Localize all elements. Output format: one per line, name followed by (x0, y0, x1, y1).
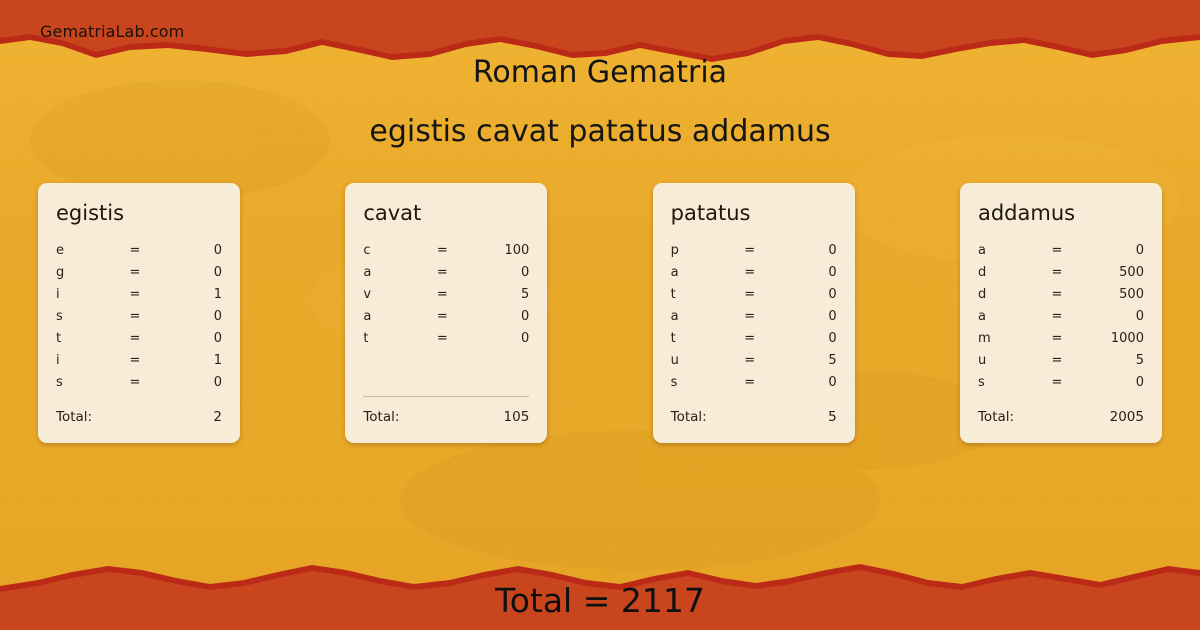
letter-value-row: t=0 (56, 331, 222, 353)
letter-value: 0 (1078, 375, 1144, 390)
equals-sign: = (114, 331, 156, 346)
letter-value-row: m=1000 (978, 331, 1144, 353)
card-total-row: Total:105 (363, 409, 529, 443)
letter: t (671, 331, 729, 346)
letter-value: 500 (1078, 287, 1144, 302)
letter-value: 0 (463, 309, 529, 324)
letter: d (978, 265, 1036, 280)
equals-sign: = (729, 331, 771, 346)
letter-value-list: p=0a=0t=0a=0t=0u=5s=0 (671, 243, 837, 397)
letter-value: 5 (1078, 353, 1144, 368)
letter-value-row: a=0 (978, 309, 1144, 331)
letter-value: 0 (156, 375, 222, 390)
letter-value: 5 (771, 353, 837, 368)
word-cards-row: egistise=0g=0i=1s=0t=0i=1s=0Total:2cavat… (38, 183, 1162, 443)
equals-sign: = (421, 309, 463, 324)
letter-value: 0 (156, 309, 222, 324)
letter-value: 500 (1078, 265, 1144, 280)
letter: g (56, 265, 114, 280)
letter: u (671, 353, 729, 368)
card-spacer (363, 353, 529, 396)
letter-value: 0 (771, 309, 837, 324)
card-total-value: 2005 (1014, 409, 1144, 425)
letter-value: 0 (771, 287, 837, 302)
letter: i (56, 287, 114, 302)
letter-value-row: g=0 (56, 265, 222, 287)
letter-value: 0 (463, 265, 529, 280)
word-card-title: addamus (978, 203, 1144, 224)
letter: d (978, 287, 1036, 302)
letter: s (56, 375, 114, 390)
letter-value-row: a=0 (363, 309, 529, 331)
letter: i (56, 353, 114, 368)
letter-value: 0 (1078, 309, 1144, 324)
card-total-label: Total: (363, 409, 399, 425)
letter-value: 0 (771, 375, 837, 390)
equals-sign: = (729, 353, 771, 368)
letter-value: 0 (156, 265, 222, 280)
equals-sign: = (1036, 287, 1078, 302)
letter: t (671, 287, 729, 302)
letter-value-row: a=0 (363, 265, 529, 287)
equals-sign: = (421, 265, 463, 280)
letter-value-row: s=0 (671, 375, 837, 397)
letter-value: 0 (1078, 243, 1144, 258)
letter: u (978, 353, 1036, 368)
equals-sign: = (1036, 353, 1078, 368)
card-total-label: Total: (978, 409, 1014, 425)
letter-value: 1000 (1078, 331, 1144, 346)
card-total-value: 2 (92, 409, 222, 425)
letter-value: 0 (463, 331, 529, 346)
letter-value-row: e=0 (56, 243, 222, 265)
letter-value-row: t=0 (363, 331, 529, 353)
letter-value-row: d=500 (978, 265, 1144, 287)
letter: s (671, 375, 729, 390)
word-card-title: egistis (56, 203, 222, 224)
letter: p (671, 243, 729, 258)
word-card-title: patatus (671, 203, 837, 224)
letter-value-row: a=0 (978, 243, 1144, 265)
letter-value: 0 (156, 243, 222, 258)
letter-value-row: v=5 (363, 287, 529, 309)
card-separator (363, 396, 529, 397)
letter-value: 0 (771, 243, 837, 258)
equals-sign: = (729, 375, 771, 390)
word-card: egistise=0g=0i=1s=0t=0i=1s=0Total:2 (38, 183, 240, 443)
letter-value-row: a=0 (671, 309, 837, 331)
site-watermark: GematriaLab.com (40, 22, 184, 41)
letter: a (978, 309, 1036, 324)
letter: a (671, 265, 729, 280)
word-card: addamusa=0d=500d=500a=0m=1000u=5s=0Total… (960, 183, 1162, 443)
letter: a (363, 309, 421, 324)
equals-sign: = (1036, 375, 1078, 390)
letter-value: 0 (771, 265, 837, 280)
equals-sign: = (114, 353, 156, 368)
header-block: Roman Gematria egistis cavat patatus add… (0, 56, 1200, 148)
gematria-card-image: GematriaLab.com Roman Gematria egistis c… (0, 0, 1200, 630)
equals-sign: = (1036, 309, 1078, 324)
equals-sign: = (729, 309, 771, 324)
letter-value-row: t=0 (671, 331, 837, 353)
card-total-label: Total: (671, 409, 707, 425)
word-card-title: cavat (363, 203, 529, 224)
equals-sign: = (421, 243, 463, 258)
card-total-value: 5 (707, 409, 837, 425)
letter: c (363, 243, 421, 258)
letter-value-row: c=100 (363, 243, 529, 265)
letter-value-list: e=0g=0i=1s=0t=0i=1s=0 (56, 243, 222, 397)
word-card: cavatc=100a=0v=5a=0t=0Total:105 (345, 183, 547, 443)
letter-value-list: c=100a=0v=5a=0t=0 (363, 243, 529, 353)
letter: v (363, 287, 421, 302)
equals-sign: = (114, 265, 156, 280)
letter-value-row: i=1 (56, 287, 222, 309)
equals-sign: = (729, 265, 771, 280)
card-total-row: Total:2 (56, 409, 222, 443)
letter: s (56, 309, 114, 324)
letter-value-row: u=5 (978, 353, 1144, 375)
equals-sign: = (114, 287, 156, 302)
card-total-row: Total:2005 (978, 409, 1144, 443)
input-phrase: egistis cavat patatus addamus (0, 115, 1200, 148)
card-total-label: Total: (56, 409, 92, 425)
letter-value-row: a=0 (671, 265, 837, 287)
letter-value-row: s=0 (56, 309, 222, 331)
equals-sign: = (1036, 331, 1078, 346)
letter-value-list: a=0d=500d=500a=0m=1000u=5s=0 (978, 243, 1144, 397)
letter-value: 100 (463, 243, 529, 258)
letter-value-row: s=0 (56, 375, 222, 397)
equals-sign: = (729, 287, 771, 302)
letter: t (363, 331, 421, 346)
page-title: Roman Gematria (0, 56, 1200, 89)
letter: s (978, 375, 1036, 390)
letter-value-row: s=0 (978, 375, 1144, 397)
letter-value: 1 (156, 287, 222, 302)
grand-total: Total = 2117 (0, 581, 1200, 620)
letter-value: 0 (156, 331, 222, 346)
letter-value: 1 (156, 353, 222, 368)
letter: a (363, 265, 421, 280)
letter-value-row: d=500 (978, 287, 1144, 309)
equals-sign: = (421, 331, 463, 346)
letter: t (56, 331, 114, 346)
letter-value: 5 (463, 287, 529, 302)
word-card: patatusp=0a=0t=0a=0t=0u=5s=0Total:5 (653, 183, 855, 443)
equals-sign: = (729, 243, 771, 258)
letter-value-row: p=0 (671, 243, 837, 265)
letter-value: 0 (771, 331, 837, 346)
letter: e (56, 243, 114, 258)
equals-sign: = (114, 375, 156, 390)
card-total-value: 105 (399, 409, 529, 425)
equals-sign: = (114, 243, 156, 258)
equals-sign: = (114, 309, 156, 324)
letter-value-row: i=1 (56, 353, 222, 375)
letter-value-row: u=5 (671, 353, 837, 375)
letter: m (978, 331, 1036, 346)
card-total-row: Total:5 (671, 409, 837, 443)
equals-sign: = (421, 287, 463, 302)
equals-sign: = (1036, 243, 1078, 258)
letter: a (671, 309, 729, 324)
letter-value-row: t=0 (671, 287, 837, 309)
equals-sign: = (1036, 265, 1078, 280)
letter: a (978, 243, 1036, 258)
